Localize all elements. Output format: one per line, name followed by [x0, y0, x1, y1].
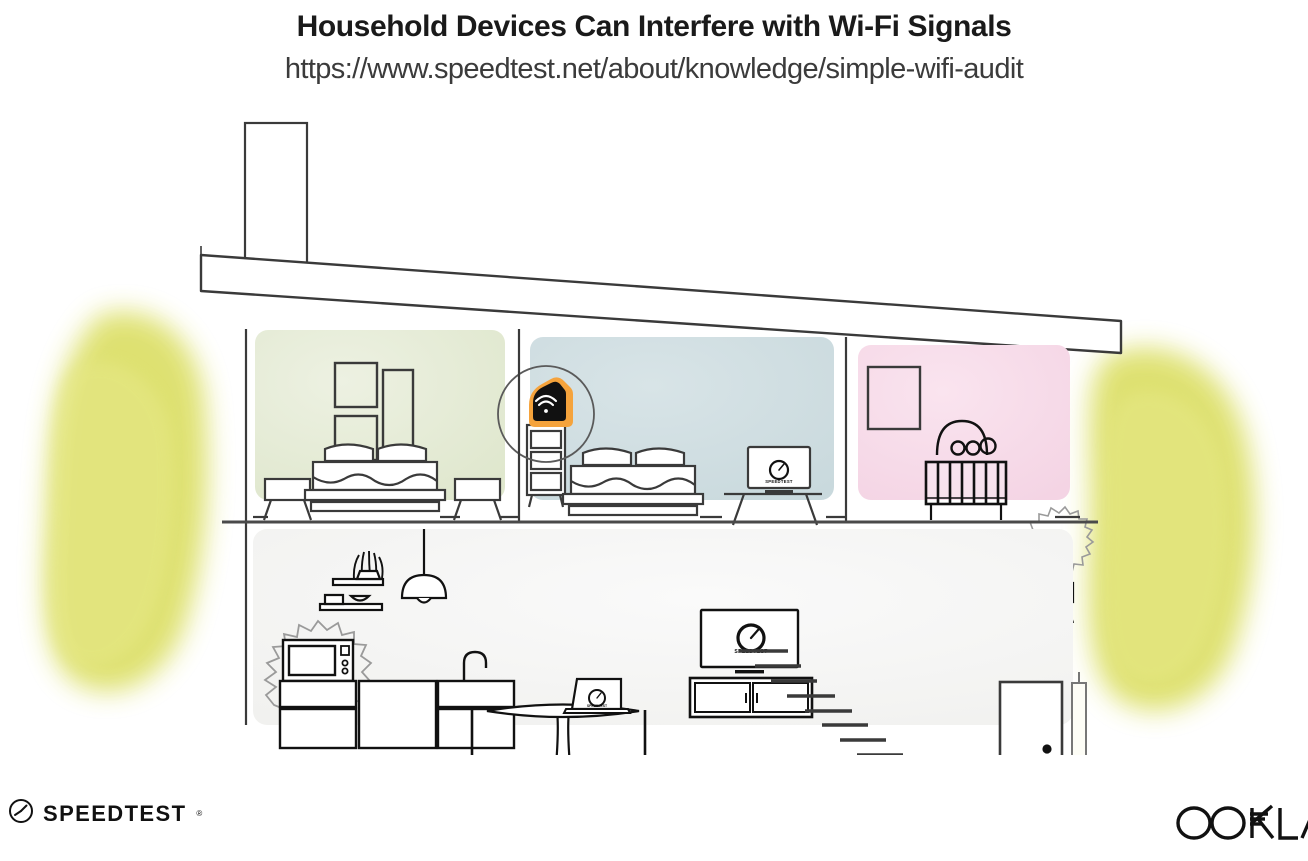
- source-url: https://www.speedtest.net/about/knowledg…: [0, 46, 1308, 87]
- svg-text:SPEEDTEST: SPEEDTEST: [587, 704, 608, 708]
- television[interactable]: SPEEDTEST: [701, 610, 798, 673]
- shelf-unit: [527, 425, 565, 507]
- door-knob-icon[interactable]: [1042, 744, 1051, 753]
- tree-foliage-right: [1088, 348, 1255, 711]
- room-bedroom-green: [255, 330, 505, 520]
- speedometer-gauge-icon: [8, 798, 34, 829]
- speedtest-trademark: ®: [196, 809, 202, 818]
- speedtest-wordmark: SPEEDTEST: [43, 801, 186, 827]
- footer: SPEEDTEST ®: [0, 780, 1308, 861]
- front-door[interactable]: [1000, 682, 1062, 755]
- crib: [926, 462, 1006, 520]
- page-title: Household Devices Can Interfere with Wi-…: [0, 0, 1308, 46]
- speedtest-logo[interactable]: SPEEDTEST ®: [8, 798, 202, 829]
- room-ground-floor: SPEEDTEST: [253, 529, 1086, 755]
- sidelight-window: [1072, 672, 1086, 755]
- ookla-logo[interactable]: ®: [1172, 802, 1308, 844]
- header: Household Devices Can Interfere with Wi-…: [0, 0, 1308, 86]
- room-bedroom-blue: SPEEDTEST: [498, 337, 834, 525]
- house-cutaway-illustration: SPEEDTEST: [0, 105, 1308, 755]
- nightstand-right: [454, 479, 501, 520]
- tree-foliage-left: [45, 312, 208, 692]
- monitor[interactable]: SPEEDTEST: [748, 447, 810, 493]
- page-root: Household Devices Can Interfere with Wi-…: [0, 0, 1308, 861]
- monitor-brand-text: SPEEDTEST: [765, 479, 793, 484]
- microwave[interactable]: [283, 640, 353, 681]
